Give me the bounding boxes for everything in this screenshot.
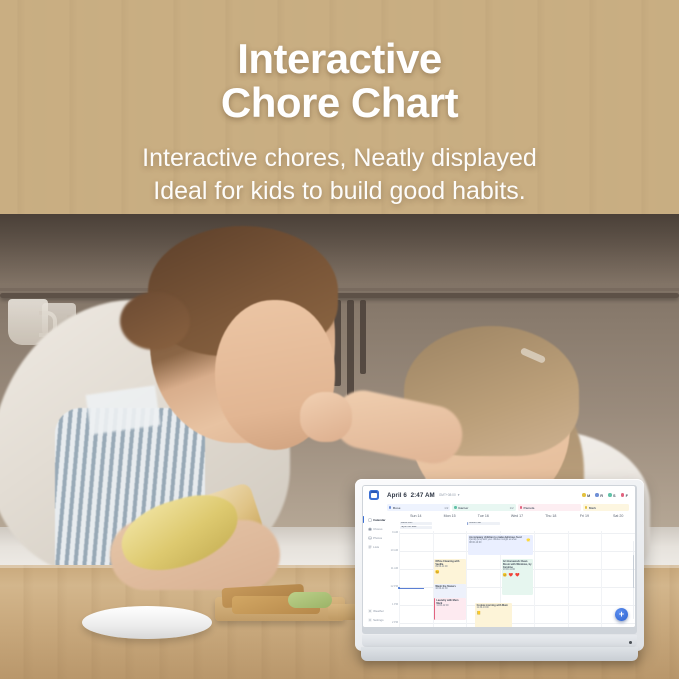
all-day-cell[interactable]	[534, 522, 568, 531]
day-header[interactable]: Sat 20	[601, 513, 635, 522]
sidebar-label: Chores	[373, 527, 382, 531]
camera-icon	[629, 641, 632, 644]
sidebar-label: Lists	[373, 545, 379, 549]
subhead-line-2: Ideal for kids to build good habits.	[0, 175, 679, 208]
promo-headline: Interactive Chore Chart	[0, 38, 679, 124]
app-header: April 6 2:47 AM GMT+08:00 ▾ M R	[363, 486, 635, 504]
rail-highlight	[0, 288, 679, 291]
hanging-utensil	[360, 300, 366, 374]
tablet-device: April 6 2:47 AM GMT+08:00 ▾ M R	[355, 479, 644, 651]
sidebar-item-settings[interactable]: Settings	[366, 615, 388, 624]
day-column[interactable]	[568, 531, 602, 627]
avatar[interactable]: M	[582, 493, 590, 498]
add-event-button[interactable]: +	[615, 608, 628, 621]
event-card[interactable]: Cookie morning with Mum 11:30-13:00 📒	[475, 603, 512, 627]
header-date: April 6 2:47 AM	[387, 492, 435, 499]
category-dot	[585, 506, 587, 508]
category-dot	[454, 506, 456, 508]
time-label: 11 AM	[388, 567, 398, 570]
white-plate	[82, 606, 212, 639]
avatar-dot	[621, 493, 625, 497]
member-avatars: M R S F	[582, 493, 628, 498]
day-header[interactable]: Fri 19	[568, 513, 602, 522]
event-card[interactable]: Art Homework Clean Room with Windows, by…	[502, 559, 534, 595]
scrollbar[interactable]	[633, 541, 634, 619]
app-body: Calendar Chores Photos Lists	[363, 513, 635, 627]
current-date: April 6	[387, 492, 407, 499]
calendar-outline-icon	[368, 518, 372, 522]
category-name: Mark	[589, 506, 596, 510]
all-day-event[interactable]: Taylor doc date	[400, 526, 433, 529]
sidebar-label: Settings	[373, 618, 383, 622]
day-header[interactable]: Wed 17	[500, 513, 534, 522]
photo-icon	[368, 536, 372, 540]
day-column[interactable]: Accompany children to make delicious foo…	[466, 531, 500, 627]
category-progress: 1/2	[444, 506, 448, 510]
avatar-dot	[608, 493, 612, 497]
avatar[interactable]: S	[608, 493, 616, 498]
avatar-initial: F	[626, 493, 628, 498]
day-header[interactable]: Tue 16	[466, 513, 500, 522]
chore-chart-app: April 6 2:47 AM GMT+08:00 ▾ M R	[363, 486, 635, 627]
day-header[interactable]: Mon 15	[433, 513, 467, 522]
day-header-row: Sun 14 Mon 15 Tue 16 Wed 17 Thu 18 Fri 1…	[388, 513, 635, 522]
event-card[interactable]: Wash the flowers 10:00-11:30	[434, 584, 466, 599]
headline-line-1: Interactive	[237, 35, 442, 82]
day-column[interactable]	[534, 531, 568, 627]
avatar-dot	[595, 493, 599, 497]
time-label: 12 PM	[388, 585, 398, 588]
current-time-dot	[398, 587, 400, 589]
mother-hair-back	[120, 292, 190, 350]
sidebar-item-weather[interactable]: Weather	[366, 606, 388, 615]
sidebar-item-chores[interactable]: Chores	[366, 524, 388, 533]
all-day-cell[interactable]	[433, 522, 467, 531]
sun-icon	[368, 609, 372, 613]
category-chip[interactable]: Pamela	[518, 504, 581, 511]
day-header[interactable]: Sun 14	[399, 513, 433, 522]
day-column[interactable]: Office Cleaning with Vanilla 09:00-11:00…	[433, 531, 467, 627]
event-hours: 11:00-12:00	[436, 605, 464, 608]
timezone-label: GMT+08:00	[439, 493, 456, 497]
sidebar-item-photos[interactable]: Photos	[366, 533, 388, 542]
sidebar: Calendar Chores Photos Lists	[363, 513, 388, 627]
event-emoji: 🌟	[526, 538, 531, 542]
event-card[interactable]: Laundry with Mum Mark 11:00-12:00	[434, 598, 466, 620]
event-card[interactable]: Accompany children to make delicious foo…	[468, 535, 533, 555]
girl-hand	[300, 392, 352, 442]
category-dot	[520, 506, 522, 508]
promo-subhead: Interactive chores, Neatly displayed Ide…	[0, 142, 679, 208]
event-emoji: 😊 ❤️ ❤️	[503, 573, 532, 577]
sidebar-label: Photos	[373, 536, 382, 540]
sidebar-item-calendar[interactable]: Calendar	[366, 515, 388, 524]
briefcase-icon	[368, 527, 372, 531]
all-day-row: Dance Run Taylor doc date Worek Plan	[388, 522, 635, 531]
sidebar-item-lists[interactable]: Lists	[366, 542, 388, 551]
category-name: Pamela	[524, 506, 535, 510]
tablet-screen: April 6 2:47 AM GMT+08:00 ▾ M R	[363, 486, 635, 627]
event-emoji: 😊	[435, 570, 464, 574]
chevron-down-icon[interactable]: ▾	[458, 493, 460, 497]
gear-icon	[368, 618, 372, 622]
avatar-initial: S	[613, 493, 616, 498]
time-label: 10 AM	[388, 549, 398, 552]
time-label: 9 AM	[388, 531, 398, 534]
category-progress: 1/2	[510, 506, 514, 510]
sidebar-label: Weather	[373, 609, 384, 613]
event-hours: 08:00-10:00	[469, 542, 532, 545]
category-chip[interactable]: Mark	[583, 504, 629, 511]
kitchen-rail	[0, 293, 679, 298]
tablet-stand	[361, 647, 638, 661]
hanging-utensil	[347, 300, 354, 396]
time-grid: 9 AM 10 AM 11 AM 12 PM 1 PM 2 PM	[388, 531, 635, 627]
category-chip[interactable]: Garner 1/2	[452, 504, 515, 511]
time-label: 1 PM	[388, 603, 398, 606]
plus-icon: +	[619, 610, 624, 619]
current-time-indicator	[399, 588, 424, 589]
all-day-event[interactable]: Worek Plan	[467, 522, 500, 525]
time-axis: 9 AM 10 AM 11 AM 12 PM 1 PM 2 PM	[388, 531, 399, 627]
avatar-initial: R	[600, 493, 603, 498]
day-header[interactable]: Thu 18	[534, 513, 568, 522]
all-day-cell[interactable]: Worek Plan	[466, 522, 500, 531]
promo-image: Interactive Chore Chart Interactive chor…	[0, 0, 679, 679]
all-day-cell[interactable]	[500, 522, 534, 531]
category-dot	[389, 506, 391, 508]
calendar-grid: Sun 14 Mon 15 Tue 16 Wed 17 Thu 18 Fri 1…	[388, 513, 635, 627]
avatar-dot	[582, 493, 586, 497]
subhead-line-1: Interactive chores, Neatly displayed	[0, 142, 679, 175]
category-name: Rose	[393, 506, 401, 510]
avatar[interactable]: F	[621, 493, 628, 498]
list-icon	[368, 545, 372, 549]
category-chip[interactable]: Rose 1/2	[387, 504, 450, 511]
avatar[interactable]: R	[595, 493, 603, 498]
day-column[interactable]	[399, 531, 433, 627]
all-day-cell[interactable]	[568, 522, 602, 531]
time-label: 2 PM	[388, 621, 398, 624]
avatar-initial: M	[587, 493, 590, 498]
sidebar-spacer	[366, 551, 388, 606]
all-day-event[interactable]: Dance Run	[400, 522, 433, 525]
calendar-icon	[369, 490, 379, 500]
all-day-cell[interactable]	[601, 522, 635, 531]
current-time: 2:47 AM	[411, 492, 435, 499]
event-hours: 10:00-11:30	[435, 588, 464, 591]
all-day-cell[interactable]: Dance Run Taylor doc date	[399, 522, 433, 531]
category-chip-row: Rose 1/2 Garner 1/2 Pamela	[363, 504, 635, 513]
category-name: Garner	[458, 506, 468, 510]
wall-shadow	[0, 214, 679, 284]
headline-line-2: Chore Chart	[0, 82, 679, 124]
event-card[interactable]: Office Cleaning with Vanilla 09:00-11:00…	[434, 559, 466, 585]
scrollbar-thumb[interactable]	[633, 555, 634, 588]
sidebar-label: Calendar	[373, 518, 385, 522]
event-title: Art Homework Clean Room with Windows, by…	[503, 560, 532, 569]
lettuce	[288, 592, 332, 608]
tablet-chin	[362, 635, 637, 647]
event-emoji: 📒	[477, 611, 511, 615]
